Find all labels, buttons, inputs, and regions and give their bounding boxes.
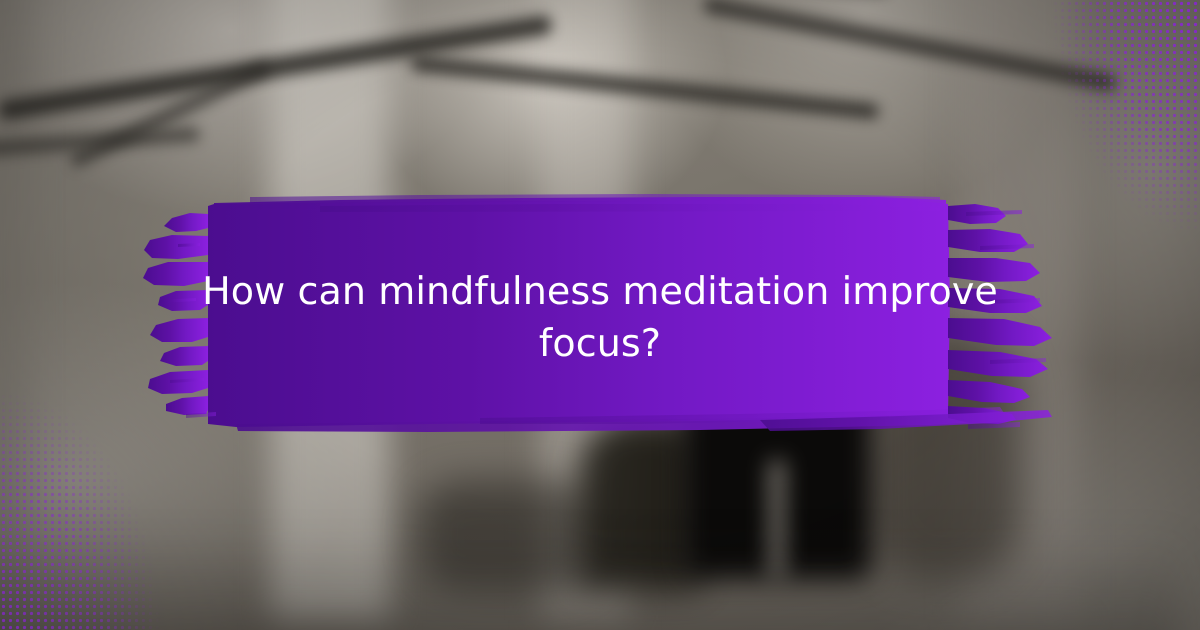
page-title: How can mindfulness meditation improve f…: [200, 265, 1000, 369]
poster-canvas: How can mindfulness meditation improve f…: [0, 0, 1200, 630]
